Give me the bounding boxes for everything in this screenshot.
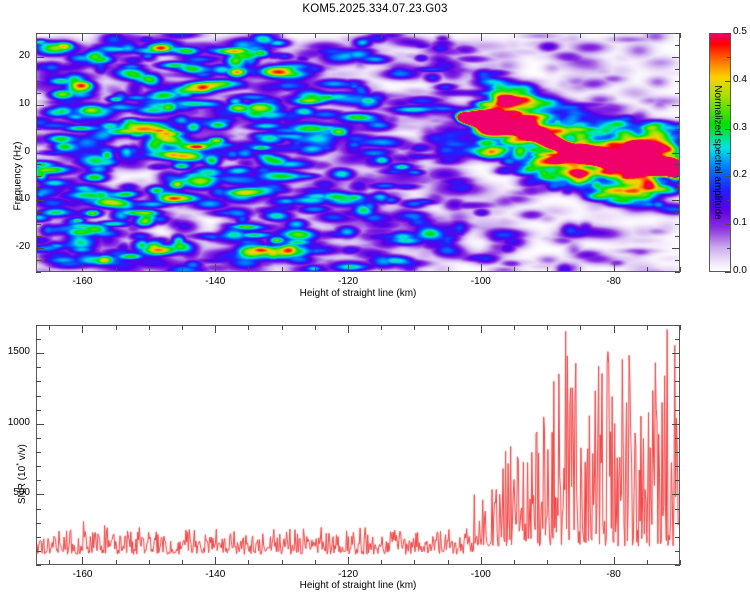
- axis-tick: [547, 267, 548, 272]
- figure-title: KOM5.2025.334.07.23.G03: [0, 3, 750, 15]
- axis-tick: [547, 325, 548, 330]
- axis-tick: [82, 325, 83, 333]
- axis-tick: [282, 560, 283, 565]
- axis-tick: [614, 33, 615, 41]
- axis-tick: [675, 33, 680, 34]
- axis-tick: [680, 325, 681, 330]
- axis-tick-label: 0.1: [733, 217, 750, 228]
- axis-tick: [675, 188, 680, 189]
- axis-tick: [580, 560, 581, 565]
- axis-tick: [182, 33, 183, 38]
- colorbar-label: Normalized spectral amplitude: [708, 33, 726, 272]
- axis-tick: [647, 325, 648, 330]
- snr-xaxis-label: Height of straight line (km): [236, 580, 480, 591]
- axis-tick: [149, 560, 150, 565]
- axis-tick: [580, 33, 581, 38]
- spectrogram-xaxis-label: Height of straight line (km): [236, 288, 480, 299]
- axis-tick: [675, 509, 680, 510]
- axis-tick: [36, 424, 44, 425]
- axis-tick: [36, 396, 41, 397]
- axis-tick: [727, 272, 731, 273]
- axis-tick: [675, 164, 680, 165]
- axis-tick: [116, 33, 117, 38]
- snr-trace: [37, 326, 679, 564]
- axis-tick: [248, 267, 249, 272]
- axis-tick: [82, 33, 83, 41]
- axis-tick: [727, 224, 731, 225]
- axis-tick: [675, 537, 680, 538]
- axis-tick: [36, 410, 41, 411]
- axis-tick: [82, 557, 83, 565]
- axis-tick: [675, 396, 680, 397]
- axis-tick: [36, 105, 44, 106]
- axis-tick-label: -140: [195, 276, 235, 287]
- axis-tick: [727, 176, 731, 177]
- axis-tick: [675, 129, 680, 130]
- axis-tick: [36, 367, 41, 368]
- axis-tick: [675, 272, 680, 273]
- axis-tick: [675, 69, 680, 70]
- axis-tick-label: -80: [594, 276, 634, 287]
- axis-tick-label: -80: [594, 569, 634, 580]
- axis-tick: [116, 267, 117, 272]
- axis-tick: [36, 551, 41, 552]
- axis-tick: [675, 81, 680, 82]
- axis-tick: [36, 57, 44, 58]
- axis-tick: [36, 565, 41, 566]
- axis-tick: [36, 381, 41, 382]
- axis-tick: [36, 353, 44, 354]
- axis-tick: [381, 560, 382, 565]
- axis-tick: [481, 557, 482, 565]
- axis-tick: [675, 236, 680, 237]
- axis-tick: [647, 560, 648, 565]
- axis-tick: [36, 93, 41, 94]
- axis-tick: [182, 560, 183, 565]
- axis-tick-label: -20: [6, 241, 30, 252]
- axis-tick-label: -120: [328, 569, 368, 580]
- axis-tick: [680, 267, 681, 272]
- axis-tick: [675, 45, 680, 46]
- axis-tick-label: -100: [461, 276, 501, 287]
- axis-tick: [514, 267, 515, 272]
- axis-tick: [36, 212, 41, 213]
- axis-tick-label: 0.2: [733, 169, 750, 180]
- axis-tick: [675, 339, 680, 340]
- axis-tick: [36, 153, 44, 154]
- axis-tick: [672, 248, 680, 249]
- axis-tick: [36, 141, 41, 142]
- axis-tick: [36, 325, 41, 326]
- axis-tick: [672, 200, 680, 201]
- axis-tick: [49, 33, 50, 38]
- axis-tick: [614, 557, 615, 565]
- axis-tick: [414, 267, 415, 272]
- axis-tick: [547, 560, 548, 565]
- axis-tick: [248, 325, 249, 330]
- axis-tick: [675, 260, 680, 261]
- axis-tick: [348, 33, 349, 41]
- axis-tick: [448, 267, 449, 272]
- axis-tick: [182, 325, 183, 330]
- axis-tick: [675, 325, 680, 326]
- axis-tick: [614, 264, 615, 272]
- axis-tick: [675, 438, 680, 439]
- axis-tick: [36, 537, 41, 538]
- axis-tick: [49, 267, 50, 272]
- axis-tick-label: -160: [62, 569, 102, 580]
- axis-tick: [414, 560, 415, 565]
- axis-tick: [727, 81, 731, 82]
- axis-tick: [36, 339, 41, 340]
- axis-tick: [36, 188, 41, 189]
- axis-tick: [149, 325, 150, 330]
- axis-tick: [282, 267, 283, 272]
- axis-tick: [36, 117, 41, 118]
- axis-tick: [36, 272, 41, 273]
- axis-tick-label: -120: [328, 276, 368, 287]
- axis-tick: [248, 560, 249, 565]
- axis-tick: [448, 560, 449, 565]
- axis-tick: [672, 494, 680, 495]
- axis-tick: [675, 452, 680, 453]
- axis-tick: [215, 264, 216, 272]
- axis-tick: [215, 33, 216, 41]
- axis-tick: [614, 325, 615, 333]
- spectrogram-yaxis-label: Frequency (Hz): [13, 91, 24, 211]
- axis-tick: [116, 560, 117, 565]
- axis-tick: [675, 410, 680, 411]
- axis-tick: [727, 200, 731, 201]
- axis-tick: [36, 81, 41, 82]
- spectrogram-panel: [36, 33, 680, 272]
- axis-tick: [282, 325, 283, 330]
- axis-tick: [672, 353, 680, 354]
- axis-tick: [481, 264, 482, 272]
- axis-tick: [580, 325, 581, 330]
- axis-tick: [381, 267, 382, 272]
- axis-tick: [481, 33, 482, 41]
- axis-tick: [381, 325, 382, 330]
- snr-panel: [36, 325, 680, 565]
- axis-tick-label: 0.5: [733, 26, 750, 37]
- axis-tick: [727, 33, 731, 34]
- axis-tick: [448, 33, 449, 38]
- axis-tick-label: -140: [195, 569, 235, 580]
- axis-tick: [414, 325, 415, 330]
- axis-tick: [116, 325, 117, 330]
- axis-tick: [675, 367, 680, 368]
- axis-tick: [514, 560, 515, 565]
- axis-tick: [381, 33, 382, 38]
- axis-tick-label: 1500: [2, 346, 30, 357]
- axis-tick: [36, 494, 44, 495]
- axis-tick: [36, 129, 41, 130]
- axis-tick: [680, 33, 681, 38]
- axis-tick: [675, 93, 680, 94]
- axis-tick: [727, 57, 731, 58]
- axis-tick: [675, 381, 680, 382]
- axis-tick: [675, 523, 680, 524]
- axis-tick-label: 0.3: [733, 122, 750, 133]
- axis-tick: [580, 267, 581, 272]
- axis-tick: [149, 267, 150, 272]
- axis-tick: [36, 33, 41, 34]
- axis-tick: [215, 325, 216, 333]
- axis-tick: [36, 523, 41, 524]
- axis-tick: [348, 264, 349, 272]
- axis-tick-label: 0.0: [733, 265, 750, 276]
- axis-tick: [727, 129, 731, 130]
- axis-tick: [514, 325, 515, 330]
- axis-tick-label: 0.4: [733, 74, 750, 85]
- axis-tick: [675, 117, 680, 118]
- axis-tick: [547, 33, 548, 38]
- axis-tick: [675, 224, 680, 225]
- axis-tick: [36, 438, 41, 439]
- axis-tick: [49, 560, 50, 565]
- axis-tick-label: -160: [62, 276, 102, 287]
- figure-canvas: KOM5.2025.334.07.23.G03 -160-140-120-100…: [0, 0, 750, 600]
- axis-tick: [727, 153, 731, 154]
- axis-tick: [675, 551, 680, 552]
- axis-tick: [672, 153, 680, 154]
- axis-tick: [727, 105, 731, 106]
- axis-tick: [215, 557, 216, 565]
- axis-tick: [248, 33, 249, 38]
- axis-tick: [647, 33, 648, 38]
- axis-tick: [647, 267, 648, 272]
- axis-tick: [82, 264, 83, 272]
- axis-tick: [414, 33, 415, 38]
- axis-tick: [680, 560, 681, 565]
- axis-tick: [672, 105, 680, 106]
- axis-tick: [675, 176, 680, 177]
- axis-tick: [672, 57, 680, 58]
- axis-tick: [282, 33, 283, 38]
- axis-tick: [182, 267, 183, 272]
- axis-tick: [49, 325, 50, 330]
- axis-tick: [675, 466, 680, 467]
- axis-tick: [448, 325, 449, 330]
- axis-tick: [348, 325, 349, 333]
- axis-tick: [315, 560, 316, 565]
- axis-tick: [315, 33, 316, 38]
- axis-tick: [36, 260, 41, 261]
- axis-tick: [514, 33, 515, 38]
- axis-tick: [149, 33, 150, 38]
- axis-tick: [36, 466, 41, 467]
- axis-tick: [675, 212, 680, 213]
- axis-tick: [36, 480, 41, 481]
- axis-tick: [36, 200, 44, 201]
- axis-tick: [36, 236, 41, 237]
- axis-tick: [36, 164, 41, 165]
- axis-tick: [348, 557, 349, 565]
- axis-tick: [727, 248, 731, 249]
- snr-yaxis-label: SNR (10* v/v): [16, 384, 28, 504]
- axis-tick: [36, 69, 41, 70]
- axis-tick: [481, 325, 482, 333]
- spectrogram-image: [37, 34, 679, 271]
- axis-tick: [36, 509, 41, 510]
- axis-tick: [36, 176, 41, 177]
- axis-tick: [36, 45, 41, 46]
- axis-tick: [675, 565, 680, 566]
- axis-tick: [672, 424, 680, 425]
- axis-tick: [315, 267, 316, 272]
- axis-tick: [36, 248, 44, 249]
- axis-tick-label: 20: [6, 50, 30, 61]
- axis-tick: [315, 325, 316, 330]
- axis-tick-label: -100: [461, 569, 501, 580]
- axis-tick: [36, 452, 41, 453]
- axis-tick: [36, 224, 41, 225]
- axis-tick: [675, 480, 680, 481]
- axis-tick: [675, 141, 680, 142]
